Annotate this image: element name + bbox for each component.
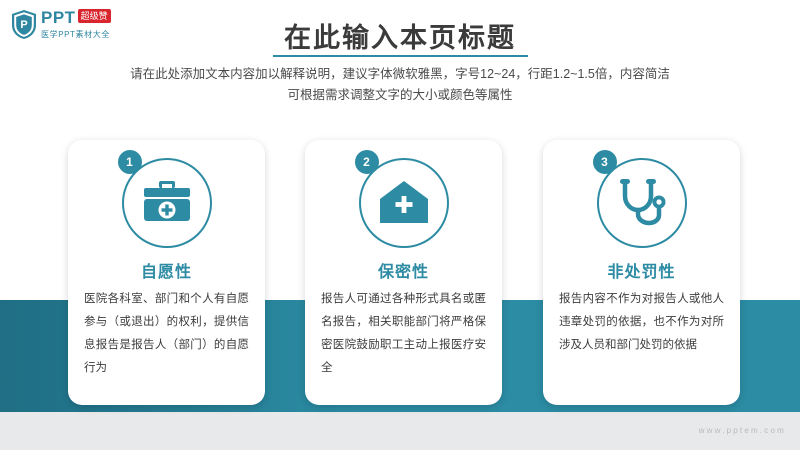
card-number-badge: 1 xyxy=(118,150,142,174)
card-title: 保密性 xyxy=(305,258,502,282)
page-title: 在此输入本页标题 xyxy=(0,16,800,55)
card-item[interactable]: 1 自愿性 医院各科室、部门和个人有自愿参与（或退出）的权利，提供信息报告是报告… xyxy=(68,140,265,405)
subtitle-line-2: 可根据需求调整文字的大小或颜色等属性 xyxy=(0,85,800,106)
subtitle-line-1: 请在此处添加文本内容加以解释说明，建议字体微软雅黑，字号12~24，行距1.2~… xyxy=(0,64,800,85)
stethoscope-icon xyxy=(614,174,670,230)
card-body-text: 报告内容不作为对报告人或他人违章处罚的依据，也不作为对所涉及人员和部门处罚的依据 xyxy=(559,288,724,357)
card-number-badge: 3 xyxy=(593,150,617,174)
card-body-text: 医院各科室、部门和个人有自愿参与（或退出）的权利，提供信息报告是报告人（部门）的… xyxy=(84,288,249,380)
hospital-cross-icon xyxy=(376,174,432,230)
card-title: 自愿性 xyxy=(68,258,265,282)
slide-root: P PPT超级赞 医学PPT素材大全 在此输入本页标题 请在此处添加文本内容加以… xyxy=(0,0,800,450)
card-body-text: 报告人可通过各种形式具名或匿名报告，相关职能部门将严格保密医院鼓励职工主动上报医… xyxy=(321,288,486,380)
card-group: 1 自愿性 医院各科室、部门和个人有自愿参与（或退出）的权利，提供信息报告是报告… xyxy=(68,140,740,405)
medical-briefcase-icon xyxy=(139,174,195,230)
card-item[interactable]: 2 保密性 报告人可通过各种形式具名或匿名报告，相关职能部门将严格保密医院鼓励职… xyxy=(305,140,502,405)
title-underline xyxy=(273,55,528,57)
card-item[interactable]: 3 非处罚性 报告内容不作为对报告人或他人违章处罚的依据，也不作为对所涉及人员和… xyxy=(543,140,740,405)
card-title: 非处罚性 xyxy=(543,258,740,282)
footer-watermark: www.pptem.com xyxy=(699,426,786,435)
grey-band xyxy=(0,412,800,450)
page-subtitle: 请在此处添加文本内容加以解释说明，建议字体微软雅黑，字号12~24，行距1.2~… xyxy=(0,64,800,106)
card-number-badge: 2 xyxy=(355,150,379,174)
